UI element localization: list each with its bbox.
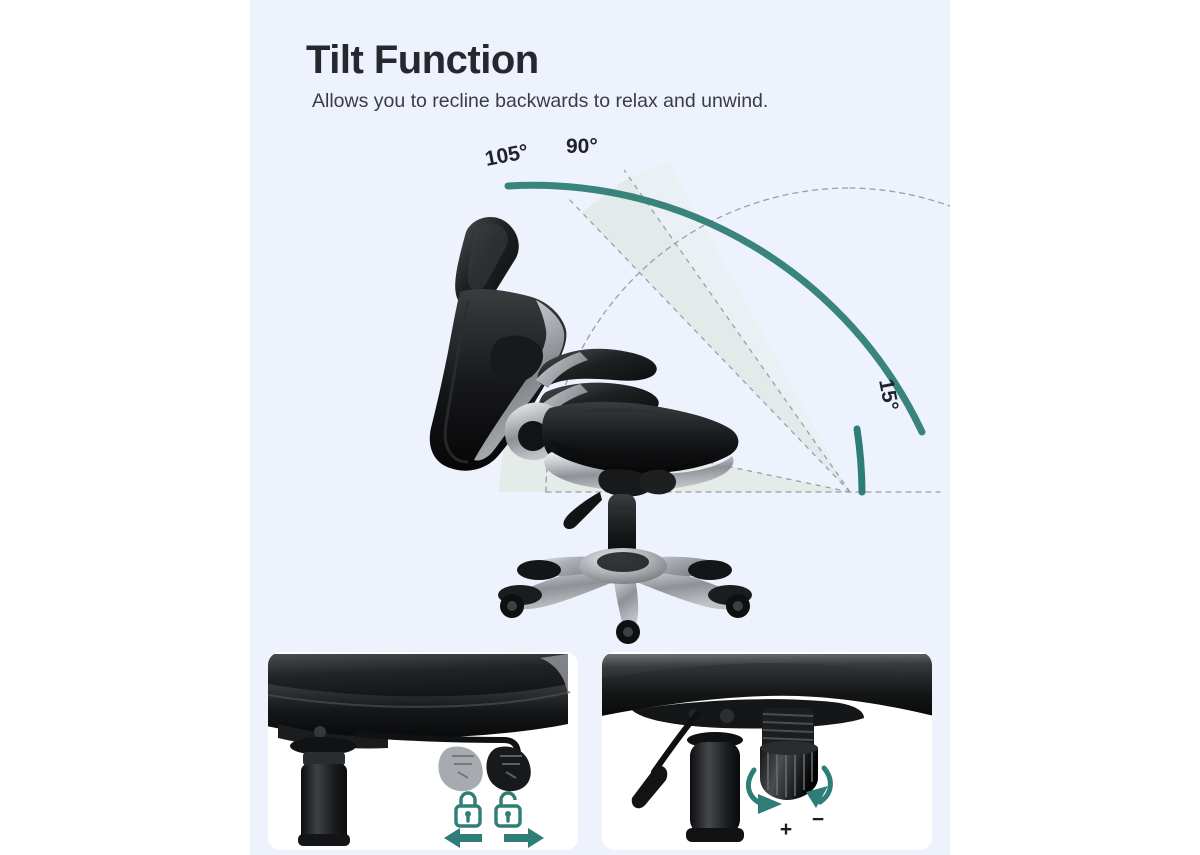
cylinder-foot [686, 828, 744, 842]
mechanism-screw [720, 709, 734, 723]
caster-rear-right [688, 560, 732, 580]
tilt-lock-lever-inset [268, 652, 578, 850]
gas-cylinder [301, 764, 347, 842]
height-adjust-lever [563, 492, 602, 529]
caster-wheel-left-hub [507, 601, 517, 611]
cylinder-sleeve [303, 752, 345, 766]
content-panel: Tilt Function Allows you to recline back… [250, 0, 950, 855]
five-star-base [509, 548, 740, 629]
plus-label: + [780, 818, 792, 841]
caster-rear-left [517, 560, 561, 580]
caster-wheel-right-hub [733, 601, 743, 611]
chair-group [430, 217, 752, 644]
minus-label: − [812, 808, 824, 831]
tilt-angle-diagram: 105° 90° 15° [250, 0, 950, 660]
mechanism-bolt [314, 726, 326, 738]
office-chair-illustration [250, 0, 950, 660]
cylinder-ring [610, 506, 634, 513]
tension-knob-inset: + − [602, 652, 932, 850]
base-hub-cap [597, 552, 649, 572]
gas-cylinder [690, 742, 740, 834]
angle-label-90: 90° [566, 135, 598, 159]
cylinder-foot [298, 834, 350, 846]
infographic-page: Tilt Function Allows you to recline back… [0, 0, 1200, 855]
knob-top-rim [760, 741, 818, 755]
caster-wheel-front-hub [623, 627, 633, 637]
